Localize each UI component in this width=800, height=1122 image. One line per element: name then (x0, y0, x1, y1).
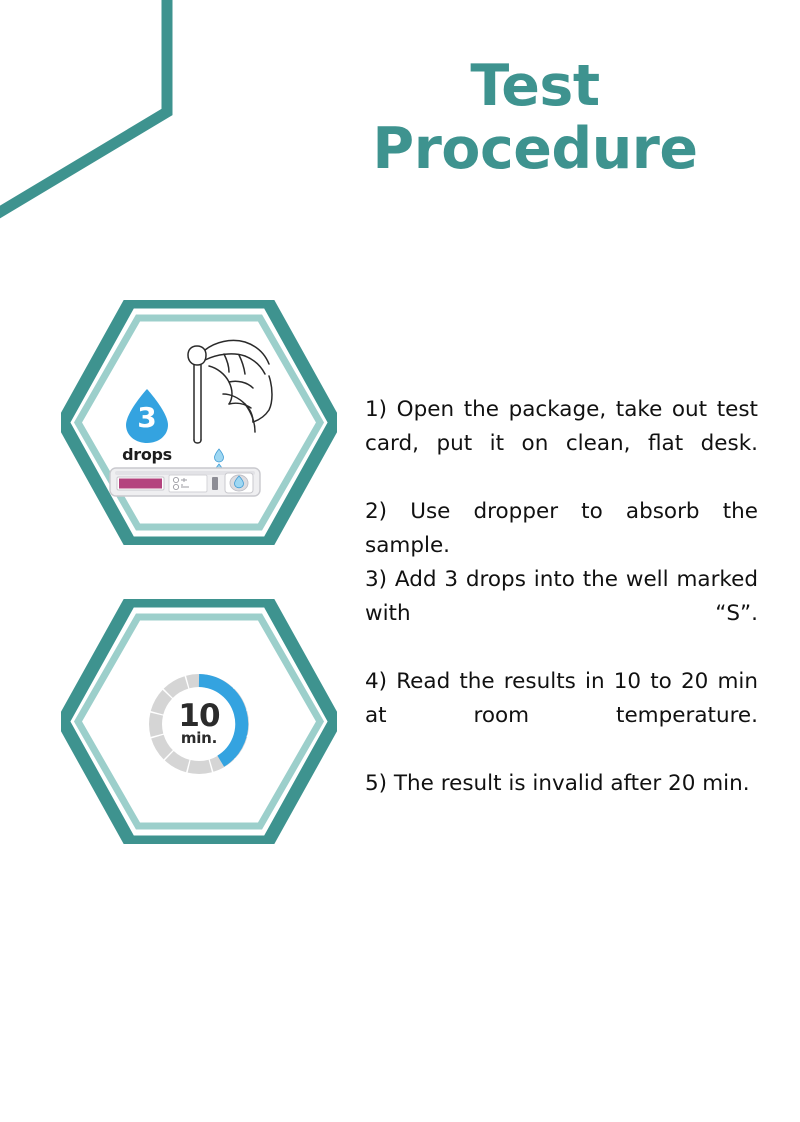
hexagon-corner-decoration (0, 0, 200, 230)
hand-holding-dropper-icon (179, 336, 283, 466)
step1-illustration: 3 drops (61, 300, 337, 545)
timer-unit: min. (181, 731, 217, 746)
instruction-step-1: 1) Open the package, take out test card,… (365, 393, 758, 495)
instructions-list: 1) Open the package, take out test card,… (365, 393, 758, 801)
instruction-step-3: 3) Add 3 drops into the well marked with… (365, 563, 758, 665)
drop-count-badge: 3 drops (119, 388, 175, 464)
step1-hexagon-card: 3 drops (61, 300, 337, 545)
instruction-step-4: 4) Read the results in 10 to 20 min at r… (365, 665, 758, 767)
test-cassette-icon (109, 465, 261, 499)
drop-count-value: 3 (124, 404, 170, 432)
water-drop-icon: 3 (124, 388, 170, 444)
timer-readout: 10 min. (149, 674, 249, 774)
instruction-step-5: 5) The result is invalid after 20 min. (365, 767, 758, 801)
drop-count-label: drops (119, 445, 175, 464)
page-title: Test Procedure (300, 55, 770, 180)
instruction-step-2: 2) Use dropper to absorb the sample. (365, 495, 758, 563)
step2-illustration: 10 min. (61, 599, 337, 844)
test-procedure-page: Test Procedure (0, 0, 800, 1122)
timer-value: 10 (178, 702, 219, 731)
step2-hexagon-card: 10 min. (61, 599, 337, 844)
